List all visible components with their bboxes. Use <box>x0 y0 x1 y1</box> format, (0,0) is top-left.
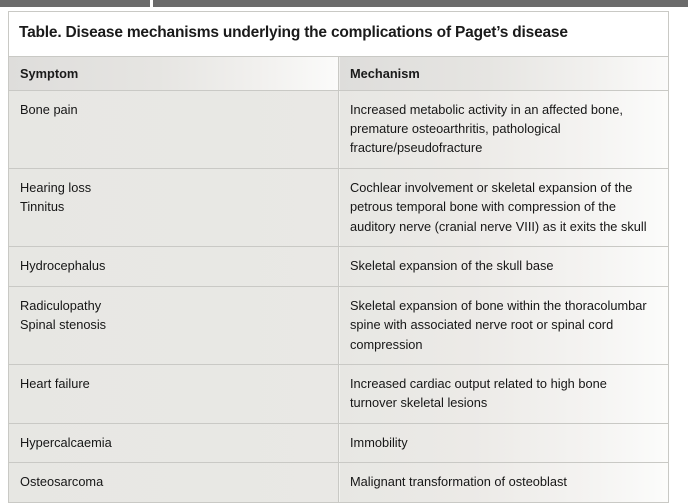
table-container: Table. Disease mechanisms underlying the… <box>8 11 669 503</box>
mechanism-text: Immobility <box>350 433 656 452</box>
mechanism-text: Increased metabolic activity in an affec… <box>350 100 656 158</box>
cell-mechanism: Skeletal expansion of bone within the th… <box>339 286 669 364</box>
table-title-cell: Table. Disease mechanisms underlying the… <box>9 12 668 56</box>
top-strip-left-segment <box>0 0 150 7</box>
table-row: Osteosarcoma Malignant transformation of… <box>9 463 668 502</box>
cell-mechanism: Increased metabolic activity in an affec… <box>339 90 669 168</box>
top-strip-right-segment <box>153 0 688 7</box>
mechanism-text: Skeletal expansion of the skull base <box>350 256 656 275</box>
table-row: Heart failure Increased cardiac output r… <box>9 364 668 423</box>
cell-symptom: Heart failure <box>9 364 339 423</box>
mechanism-text: Increased cardiac output related to high… <box>350 374 656 413</box>
cell-mechanism: Increased cardiac output related to high… <box>339 364 669 423</box>
mechanism-text: Cochlear involvement or skeletal expansi… <box>350 178 656 236</box>
table-row: Hydrocephalus Skeletal expansion of the … <box>9 247 668 286</box>
cell-mechanism: Cochlear involvement or skeletal expansi… <box>339 168 669 246</box>
cell-symptom: Hypercalcaemia <box>9 423 339 462</box>
mechanism-text: Malignant transformation of osteoblast <box>350 472 656 491</box>
column-header-mechanism: Mechanism <box>339 56 669 90</box>
disease-mechanisms-table: Table. Disease mechanisms underlying the… <box>9 12 668 502</box>
cell-mechanism: Malignant transformation of osteoblast <box>339 463 669 502</box>
top-decorative-strip <box>0 0 688 8</box>
table-title: Table. Disease mechanisms underlying the… <box>19 24 658 43</box>
cell-mechanism: Skeletal expansion of the skull base <box>339 247 669 286</box>
table-title-row: Table. Disease mechanisms underlying the… <box>9 12 668 56</box>
cell-symptom: Hydrocephalus <box>9 247 339 286</box>
column-header-symptom: Symptom <box>9 56 339 90</box>
cell-symptom: Radiculopathy Spinal stenosis <box>9 286 339 364</box>
mechanism-text: Skeletal expansion of bone within the th… <box>350 296 656 354</box>
table-row: Bone pain Increased metabolic activity i… <box>9 90 668 168</box>
table-row: Hearing loss Tinnitus Cochlear involveme… <box>9 168 668 246</box>
table-body: Table. Disease mechanisms underlying the… <box>9 12 668 502</box>
cell-symptom: Hearing loss Tinnitus <box>9 168 339 246</box>
cell-mechanism: Immobility <box>339 423 669 462</box>
table-header-row: Symptom Mechanism <box>9 56 668 90</box>
cell-symptom: Bone pain <box>9 90 339 168</box>
table-row: Hypercalcaemia Immobility <box>9 423 668 462</box>
table-row: Radiculopathy Spinal stenosis Skeletal e… <box>9 286 668 364</box>
cell-symptom: Osteosarcoma <box>9 463 339 502</box>
